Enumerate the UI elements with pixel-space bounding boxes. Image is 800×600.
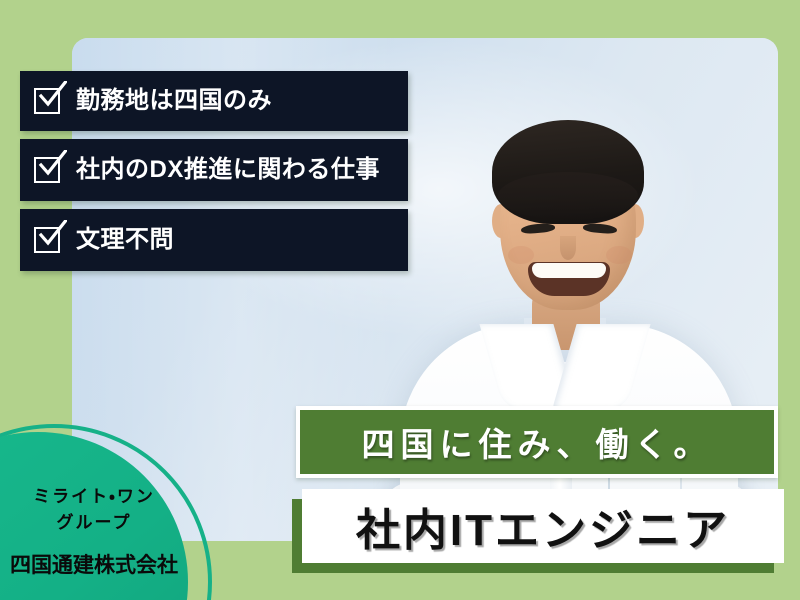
checkbox-checked-icon [34, 155, 64, 185]
group-name-line1: ミライト・ワン [0, 484, 188, 510]
feature-checklist: 勤務地は四国のみ 社内のDX推進に関わる仕事 文理不問 [20, 71, 408, 279]
tagline-text: 四国に住み、働く。 [362, 418, 713, 466]
group-name-line2: グループ [0, 510, 188, 536]
job-title-banner: 社内ITエンジニア [302, 489, 784, 563]
nose [560, 236, 576, 260]
cheek-right [606, 246, 632, 264]
company-name: 四国通建株式会社 [0, 549, 188, 579]
tagline-banner: 四国に住み、働く。 [296, 406, 778, 478]
hair [492, 120, 644, 224]
checkbox-checked-icon [34, 225, 64, 255]
checklist-item-1: 勤務地は四国のみ [20, 71, 408, 131]
cheek-left [508, 246, 534, 264]
smiling-mouth [528, 262, 610, 296]
checklist-item-2: 社内のDX推進に関わる仕事 [20, 139, 408, 201]
recruitment-banner: 勤務地は四国のみ 社内のDX推進に関わる仕事 文理不問 四国に住み、働く。 [0, 0, 800, 600]
checklist-item-label: 勤務地は四国のみ [76, 89, 272, 113]
checklist-item-label: 文理不問 [76, 228, 174, 252]
company-logo: ミライト・ワン グループ 四国通建株式会社 [0, 484, 188, 579]
checkbox-checked-icon [34, 86, 64, 116]
teeth [532, 263, 606, 278]
checklist-item-3: 文理不問 [20, 209, 408, 271]
job-title-text: 社内ITエンジニア [356, 494, 730, 558]
checklist-item-label: 社内のDX推進に関わる仕事 [76, 158, 380, 182]
